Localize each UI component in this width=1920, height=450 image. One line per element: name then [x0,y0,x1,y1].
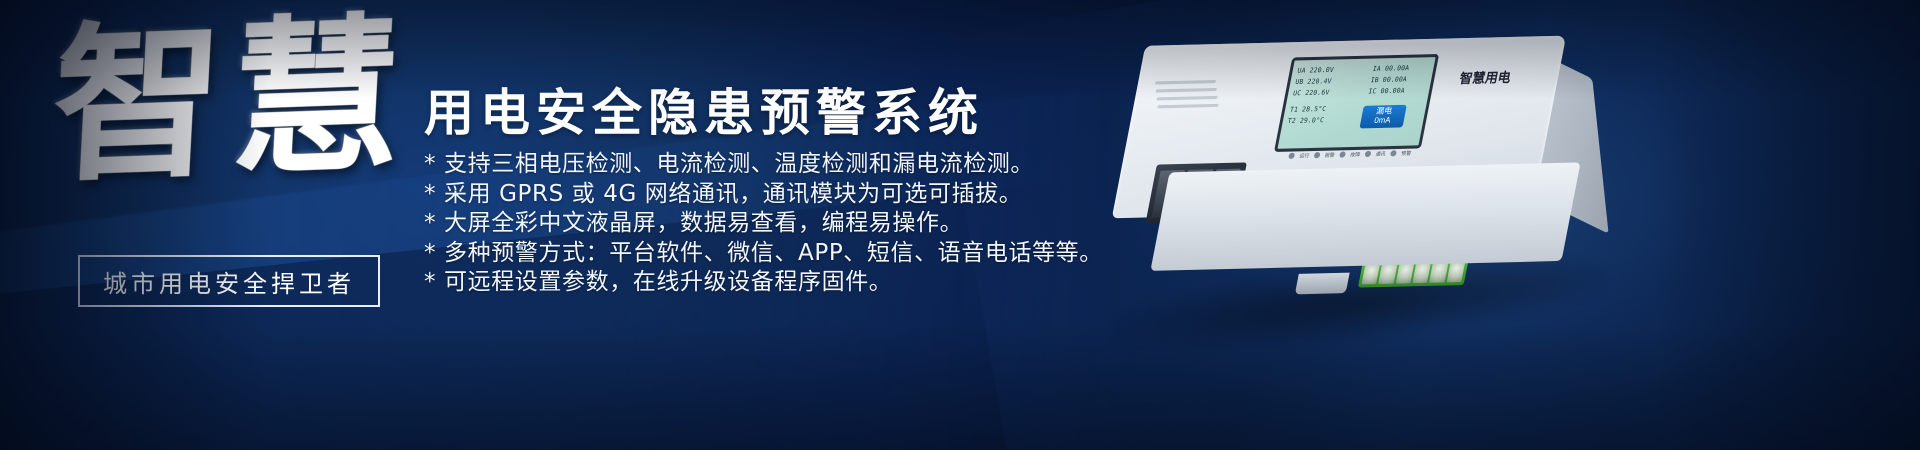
feature-line: * 采用 GPRS 或 4G 网络通讯，通讯模块为可选可插拔。 [424,180,1144,210]
led-label: 运行 [1299,152,1310,159]
feature-line: * 多种预警方式：平台软件、微信、APP、短信、语音电话等等。 [424,239,1144,269]
calligraphy-logo-text: 智慧 [46,9,439,252]
led-label: 通讯 [1375,150,1386,157]
lcd-voltage-c: UC 220.6V [1292,88,1330,97]
led-indicator [1339,151,1346,157]
device-front-face [1150,162,1580,271]
lcd-leakage-badge: 漏电 0mA [1359,105,1406,129]
page-title: 用电安全隐患预警系统 [424,86,984,140]
feature-line: * 大屏全彩中文液晶屏，数据易查看，编程易操作。 [424,209,1144,239]
feature-line: * 可远程设置参数，在线升级设备程序固件。 [424,268,1144,298]
feature-list: * 支持三相电压检测、电流检测、温度检测和漏电流检测。 * 采用 GPRS 或 … [424,150,1144,298]
lcd-leakage-value: 0mA [1373,116,1391,125]
led-indicator [1390,150,1397,156]
lcd-voltage-b: UB 220.4V [1295,77,1333,86]
product-device-image: UA 220.0V UB 220.4V UC 220.6V T1 28.5°C … [1074,0,1665,376]
lcd-voltage-a: UA 220.0V [1297,66,1335,75]
device-lcd-screen: UA 220.0V UB 220.4V UC 220.6V T1 28.5°C … [1274,54,1439,152]
lcd-current-a: IA 00.00A [1372,64,1410,73]
led-indicator [1288,153,1295,159]
lcd-temp-1: T1 28.5°C [1289,105,1327,114]
promo-banner: 智慧 城市用电安全捍卫者 用电安全隐患预警系统 * 支持三相电压检测、电流检测、… [0,0,1920,450]
lcd-current-c: IC 00.00A [1368,86,1406,95]
device-brand-mark: 智慧用电 [1436,66,1532,107]
device-din-rail-clip [1295,273,1350,295]
led-label: 预警 [1401,149,1412,156]
led-label: 故障 [1350,151,1361,158]
led-label: 报警 [1324,151,1335,158]
slogan-box: 城市用电安全捍卫者 [78,255,380,307]
lcd-temp-2: T2 29.0°C [1287,116,1325,125]
feature-line: * 支持三相电压检测、电流检测、温度检测和漏电流检测。 [424,150,1144,180]
led-indicator [1314,152,1321,158]
slogan-text: 城市用电安全捍卫者 [103,264,355,299]
lcd-current-b: IB 00.00A [1370,75,1408,84]
led-indicator [1364,151,1371,157]
